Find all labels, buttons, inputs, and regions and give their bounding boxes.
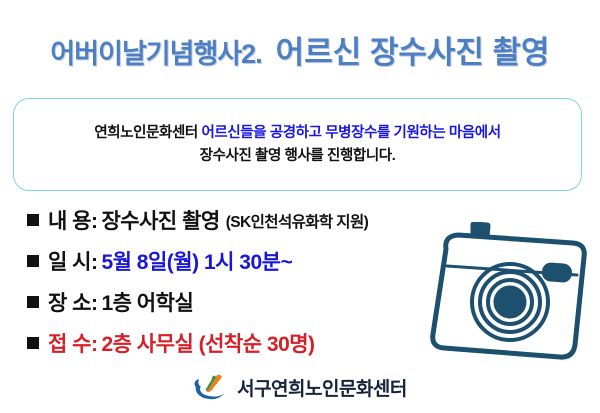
square-bullet-icon	[27, 296, 39, 308]
detail-label-datetime: 일 시:	[48, 246, 97, 276]
description-center-name: 연희노인문화센터	[94, 125, 198, 141]
description-text: 연희노인문화센터 어르신들을 공경하고 무병장수를 기원하는 마음에서 장수사진…	[14, 122, 581, 167]
description-highlight: 어르신들을 공경하고 무병장수를 기원하는 마음에서	[201, 125, 500, 141]
camera-icon	[425, 222, 597, 368]
footer-organization-name: 서구연희노인문화센터	[237, 374, 407, 401]
detail-note-sponsor: (SK인천석유화학 지원)	[226, 210, 368, 232]
title-prefix: 어버이날기념행사2.	[50, 41, 261, 68]
description-box: 연희노인문화센터 어르신들을 공경하고 무병장수를 기원하는 마음에서 장수사진…	[13, 98, 582, 191]
square-bullet-icon	[27, 255, 39, 267]
detail-label-content: 내 용:	[48, 205, 97, 235]
square-bullet-icon	[27, 214, 39, 226]
poster-canvas: 어버이날기념행사2.어르신 장수사진 촬영 연희노인문화센터 어르신들을 공경하…	[0, 0, 600, 413]
detail-value-registration: 2층 사무실 (선착순 30명)	[101, 328, 314, 358]
detail-value-datetime: 5월 8일(월) 1시 30분~	[101, 246, 292, 276]
detail-label-registration: 접 수:	[48, 328, 97, 358]
detail-row-registration: 접 수: 2층 사무실 (선착순 30명)	[27, 328, 447, 369]
detail-value-location: 1층 어학실	[101, 287, 193, 317]
title-main: 어르신 장수사진 촬영	[276, 37, 550, 68]
detail-list: 내 용: 장수사진 촬영 (SK인천석유화학 지원) 일 시: 5월 8일(월)…	[27, 205, 447, 369]
square-bullet-icon	[27, 337, 39, 349]
detail-row-datetime: 일 시: 5월 8일(월) 1시 30분~	[27, 246, 447, 287]
center-logo-icon	[193, 373, 229, 401]
footer: 서구연희노인문화센터	[0, 373, 600, 401]
detail-row-location: 장 소: 1층 어학실	[27, 287, 447, 328]
description-closing: 장수사진 촬영 행사를 진행합니다.	[200, 148, 396, 164]
detail-row-content: 내 용: 장수사진 촬영 (SK인천석유화학 지원)	[27, 205, 447, 246]
page-title: 어버이날기념행사2.어르신 장수사진 촬영	[0, 37, 600, 68]
detail-label-location: 장 소:	[48, 287, 97, 317]
detail-value-content: 장수사진 촬영	[101, 205, 219, 235]
